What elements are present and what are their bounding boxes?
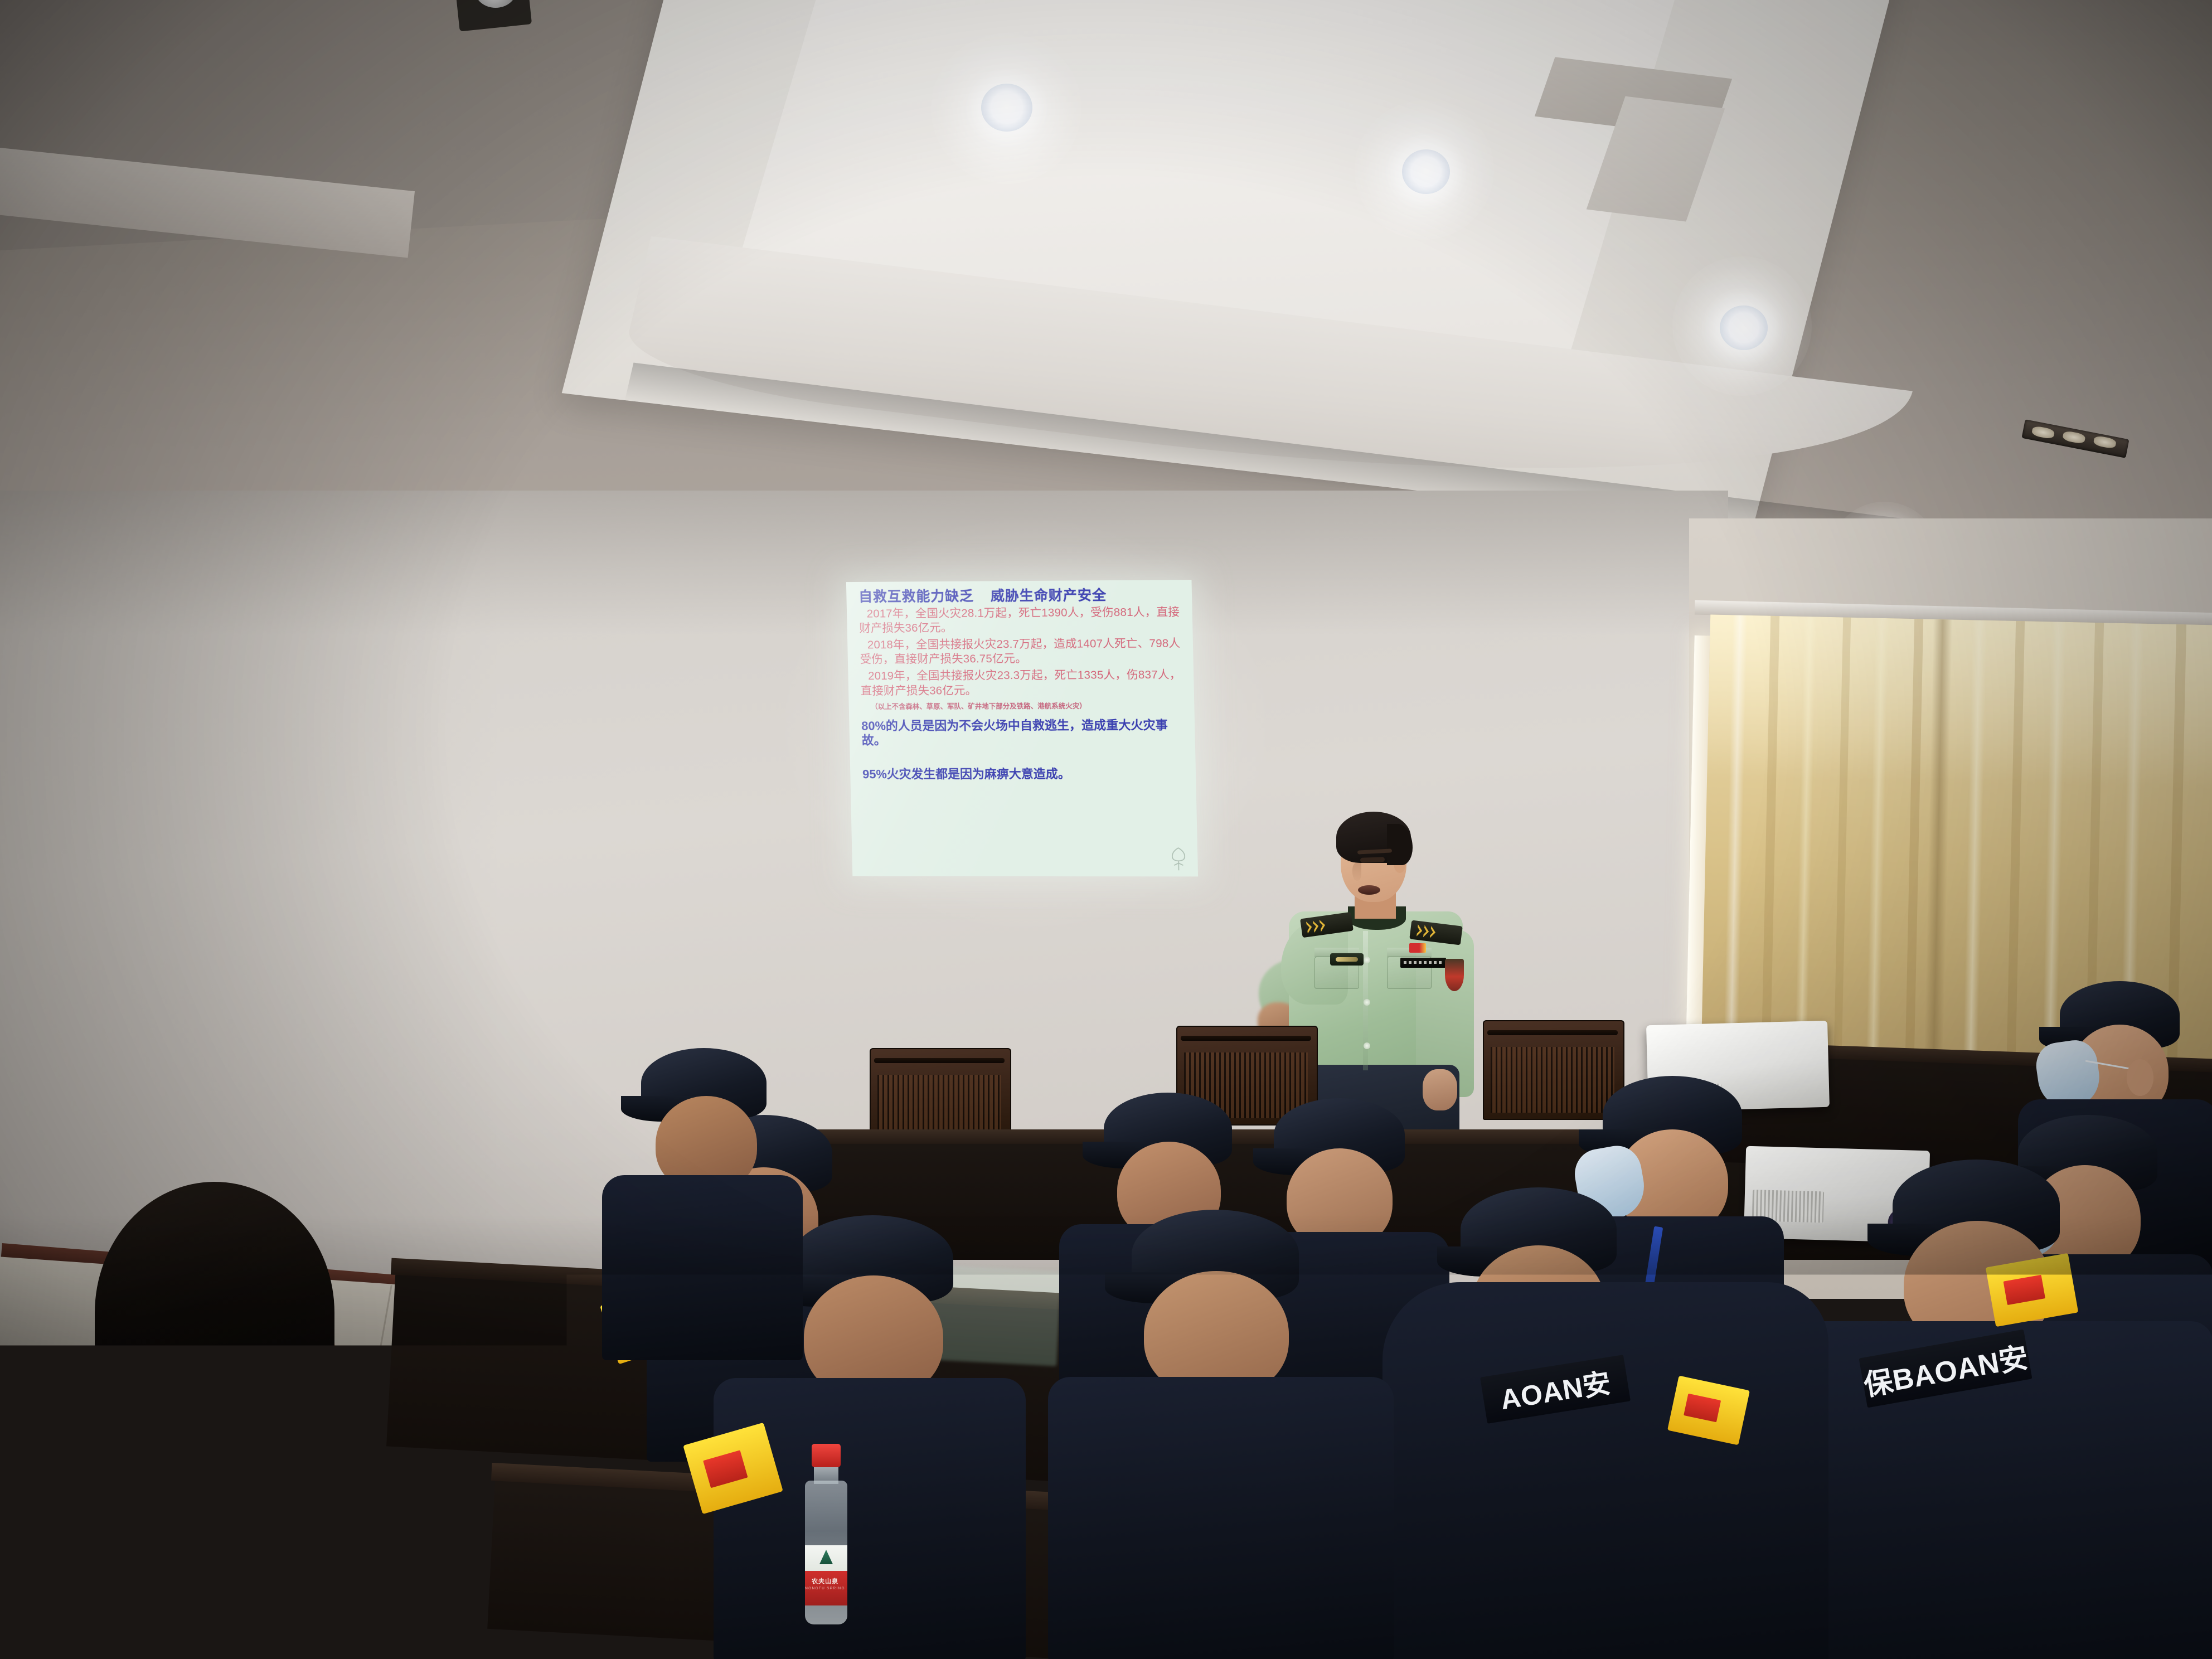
attendee-far-left [602, 1048, 803, 1360]
attendee-jacket [602, 1175, 803, 1360]
bottle-brand-cn: 农夫山泉 [798, 1576, 852, 1585]
presenter-nose [1352, 863, 1361, 881]
bottle-brand-en: NONGFU SPRING [798, 1587, 852, 1590]
presenter-shirt-button-3 [1364, 1042, 1370, 1049]
slide-watermark-logo-icon [1167, 846, 1190, 872]
water-bottle[interactable]: 农夫山泉 NONGFU SPRING [798, 1444, 852, 1628]
bottle-cap [812, 1444, 841, 1467]
downlight-icon-2 [1402, 149, 1450, 194]
slide-highlight-80: 80%的人员是因为不会火场中自救逃生，造成重大火灾事故。 [861, 718, 1186, 749]
downlight-icon-3 [1720, 305, 1768, 350]
slide-title-right: 威胁生命财产安全 [991, 588, 1107, 604]
presenter-name-tag [1400, 958, 1446, 968]
presenter-sleeve-patch [1445, 959, 1464, 991]
presenter-chest-badge [1330, 953, 1364, 966]
slide-footnote: （以上不含森林、草原、军队、矿井地下部分及铁路、港航系统火灾） [861, 701, 1185, 711]
slide-highlight-95: 95%火灾发生都是因为麻痹大意造成。 [862, 767, 1187, 782]
slide-title: 自救互救能力缺乏 威胁生命财产安全 [858, 588, 1183, 605]
attendee-left-front [1048, 1210, 1394, 1659]
slide-stat-2018: 2018年，全国共接报火灾23.7万起，造成1407人死亡、798人受伤，直接财… [860, 636, 1185, 667]
foreground-attendee [33, 1182, 457, 1659]
photo-scene: 自救互救能力缺乏 威胁生命财产安全 2017年，全国火灾28.1万起，死亡139… [0, 0, 2212, 1659]
foreground-hair [95, 1182, 334, 1444]
projected-slide: 自救互救能力缺乏 威胁生命财产安全 2017年，全国火灾28.1万起，死亡139… [846, 580, 1198, 876]
downlight-icon-1 [981, 84, 1032, 132]
presenter-flag-pin-icon [1409, 943, 1426, 953]
attendee-right-front: 保BAOAN安 [1784, 1160, 2212, 1659]
slide-stat-2017: 2017年，全国火灾28.1万起，死亡1390人，受伤881人，直接财产损失36… [859, 605, 1184, 636]
attendee-jacket [1382, 1282, 1828, 1659]
attendee-jacket [714, 1378, 1026, 1659]
presenter-shirt-button-1 [1364, 957, 1370, 963]
attendee-ear [2127, 1059, 2153, 1096]
slide-stat-2019: 2019年，全国共接报火灾23.3万起，死亡1335人，伤837人，直接财产损失… [860, 668, 1185, 698]
presenter-shirt-button-2 [1364, 999, 1370, 1006]
presenter-mouth [1358, 885, 1380, 895]
attendee-jacket [1048, 1377, 1394, 1659]
bottle-neck [814, 1465, 838, 1484]
presenter-eye [1360, 857, 1385, 863]
slide-title-left: 自救互救能力缺乏 [858, 589, 974, 605]
attendee-baoan-partial: AOAN安 [1382, 1282, 1828, 1659]
